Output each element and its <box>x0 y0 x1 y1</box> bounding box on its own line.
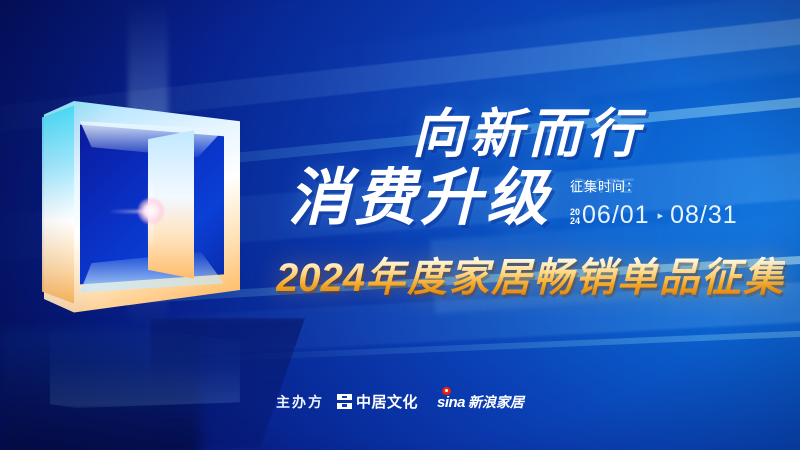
promo-banner: 向新而行 消费升级 DATE 征集时间： 20 24 06/01 ▸ 08/31… <box>0 0 800 450</box>
vignette-overlay <box>0 0 800 450</box>
